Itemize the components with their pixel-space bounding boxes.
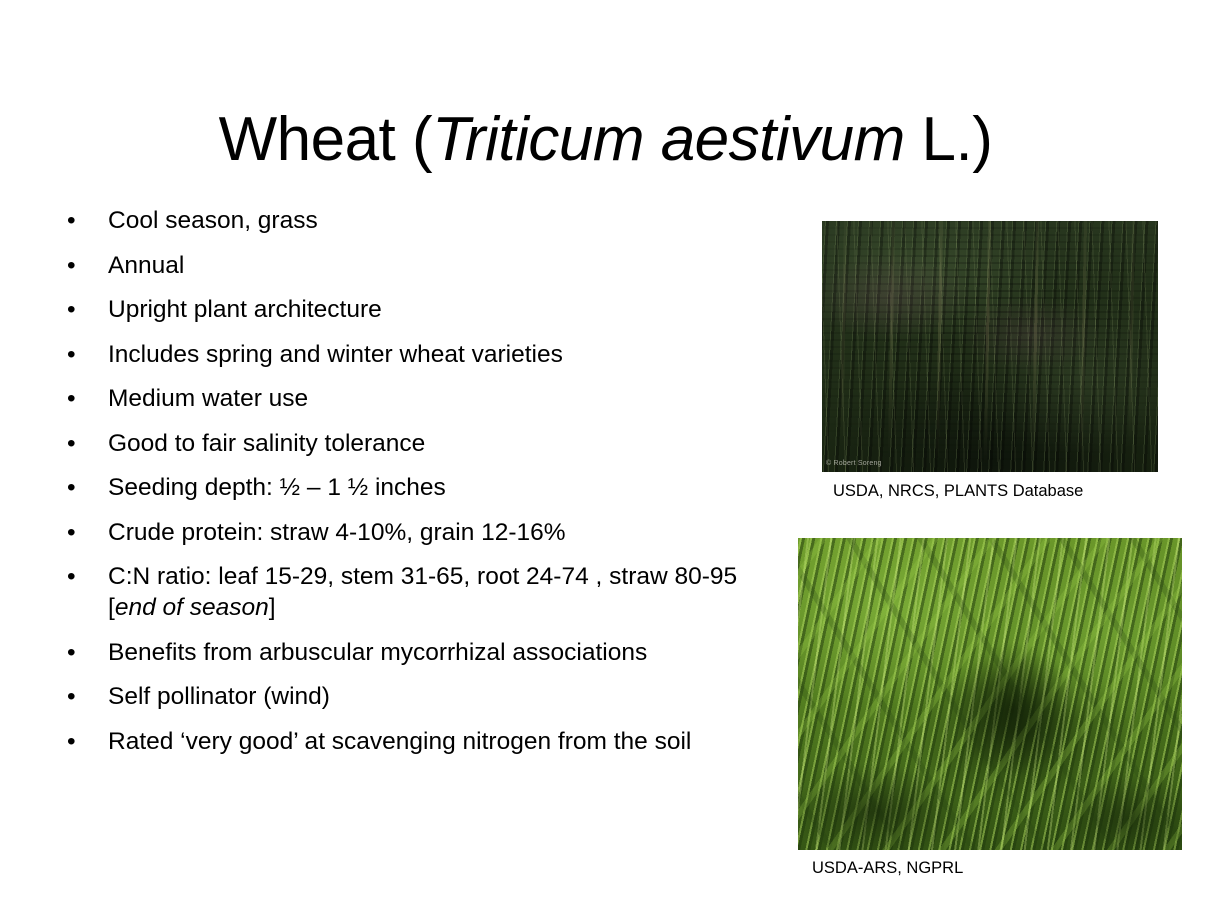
cn-ratio-bracket-close: ] bbox=[269, 594, 276, 621]
list-item-label: Medium water use bbox=[108, 383, 788, 414]
bullet-marker-icon: • bbox=[67, 472, 76, 503]
bullet-marker-icon: • bbox=[67, 428, 76, 459]
bullet-marker-icon: • bbox=[67, 517, 76, 548]
list-item: • Medium water use bbox=[58, 383, 788, 414]
bullet-marker-icon: • bbox=[67, 637, 76, 668]
list-item-label: C:N ratio: leaf 15-29, stem 31-65, root … bbox=[108, 561, 788, 623]
list-item-label: Seeding depth: ½ – 1 ½ inches bbox=[108, 472, 788, 503]
photo-color-tint-layer bbox=[822, 221, 1158, 472]
list-item-label: Benefits from arbuscular mycorrhizal ass… bbox=[108, 637, 788, 668]
list-item-label: Good to fair salinity tolerance bbox=[108, 428, 788, 459]
list-item-label: Annual bbox=[108, 250, 788, 281]
photo-watermark: © Robert Soreng bbox=[826, 459, 882, 468]
bullet-marker-icon: • bbox=[67, 561, 76, 592]
bullet-list: • Cool season, grass • Annual • Upright … bbox=[58, 205, 788, 770]
title-prefix: Wheat ( bbox=[219, 105, 433, 174]
list-item: • Upright plant architecture bbox=[58, 294, 788, 325]
bullet-marker-icon: • bbox=[67, 205, 76, 236]
list-item: • Good to fair salinity tolerance bbox=[58, 428, 788, 459]
list-item-label: Cool season, grass bbox=[108, 205, 788, 236]
wheat-heads-photo: © Robert Soreng bbox=[822, 221, 1158, 472]
list-item-label: Self pollinator (wind) bbox=[108, 681, 788, 712]
list-item: • Self pollinator (wind) bbox=[58, 681, 788, 712]
list-item: • Cool season, grass bbox=[58, 205, 788, 236]
list-item-label: Upright plant architecture bbox=[108, 294, 788, 325]
list-item: • Rated ‘very good’ at scavenging nitrog… bbox=[58, 726, 788, 757]
list-item-label: Rated ‘very good’ at scavenging nitrogen… bbox=[108, 726, 788, 757]
bullet-marker-icon: • bbox=[67, 250, 76, 281]
caption-top-photo: USDA, NRCS, PLANTS Database bbox=[833, 481, 1083, 501]
list-item: • Benefits from arbuscular mycorrhizal a… bbox=[58, 637, 788, 668]
list-item: • Crude protein: straw 4-10%, grain 12-1… bbox=[58, 517, 788, 548]
list-item: • Includes spring and winter wheat varie… bbox=[58, 339, 788, 370]
bullet-marker-icon: • bbox=[67, 726, 76, 757]
title-scientific-name: Triticum aestivum bbox=[432, 105, 905, 174]
cn-ratio-note: end of season bbox=[115, 594, 269, 621]
list-item-label: Crude protein: straw 4-10%, grain 12-16% bbox=[108, 517, 788, 548]
page-title: Wheat (Triticum aestivum L.) bbox=[0, 104, 1211, 175]
list-item: • Seeding depth: ½ – 1 ½ inches bbox=[58, 472, 788, 503]
bullet-marker-icon: • bbox=[67, 383, 76, 414]
bullet-marker-icon: • bbox=[67, 681, 76, 712]
bullet-marker-icon: • bbox=[67, 294, 76, 325]
green-wheat-field-photo bbox=[798, 538, 1182, 850]
list-item-label: Includes spring and winter wheat varieti… bbox=[108, 339, 788, 370]
list-item-cn-ratio: • C:N ratio: leaf 15-29, stem 31-65, roo… bbox=[58, 561, 788, 623]
caption-bottom-photo: USDA-ARS, NGPRL bbox=[812, 858, 963, 878]
title-suffix: L.) bbox=[905, 105, 993, 174]
bullet-marker-icon: • bbox=[67, 339, 76, 370]
photo-shadow-layer bbox=[798, 538, 1182, 850]
list-item: • Annual bbox=[58, 250, 788, 281]
